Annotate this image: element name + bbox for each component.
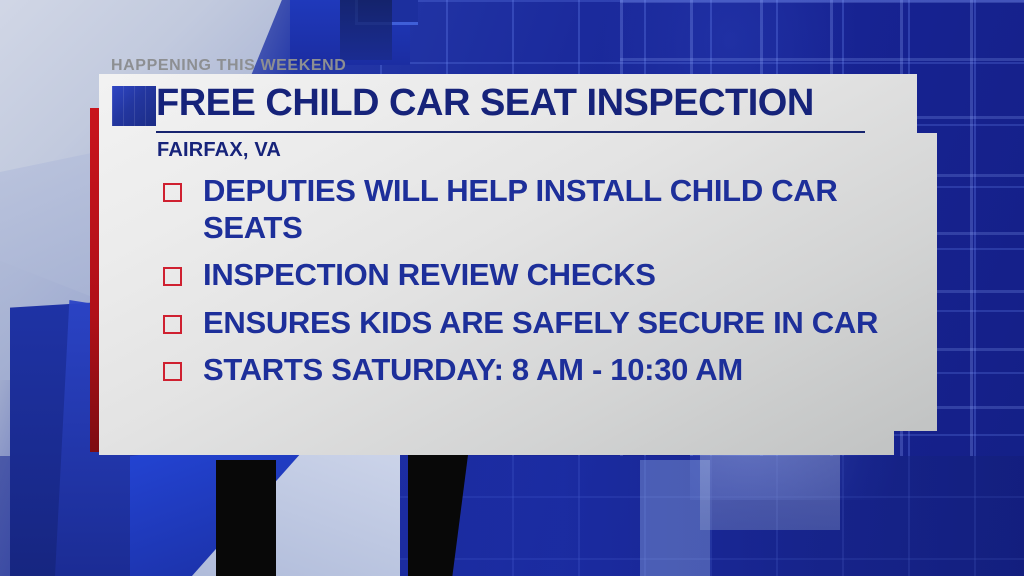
station-logo-icon: [112, 86, 156, 126]
list-item: ENSURES KIDS ARE SAFELY SECURE IN CAR: [163, 304, 923, 341]
broadcast-graphic: HAPPENING THIS WEEKEND FREE CHILD CAR SE…: [0, 0, 1024, 576]
kicker-text: HAPPENING THIS WEEKEND: [111, 57, 346, 75]
bullet-square-icon: [163, 183, 182, 202]
location-subtitle: FAIRFAX, VA: [157, 139, 281, 162]
list-item-label: DEPUTIES WILL HELP INSTALL CHILD CAR SEA…: [203, 172, 923, 246]
headline-divider: [156, 131, 865, 133]
list-item: STARTS SATURDAY: 8 AM - 10:30 AM: [163, 351, 923, 388]
bullet-square-icon: [163, 315, 182, 334]
list-item-label: STARTS SATURDAY: 8 AM - 10:30 AM: [203, 351, 743, 388]
list-item: DEPUTIES WILL HELP INSTALL CHILD CAR SEA…: [163, 172, 923, 246]
bullet-square-icon: [163, 267, 182, 286]
bullet-list: DEPUTIES WILL HELP INSTALL CHILD CAR SEA…: [163, 172, 923, 398]
list-item: INSPECTION REVIEW CHECKS: [163, 256, 923, 293]
background-column-dark: [340, 0, 392, 60]
background-dark-column: [216, 460, 276, 576]
bullet-square-icon: [163, 362, 182, 381]
headline-title: FREE CHILD CAR SEAT INSPECTION: [156, 82, 814, 125]
list-item-label: ENSURES KIDS ARE SAFELY SECURE IN CAR: [203, 304, 878, 341]
list-item-label: INSPECTION REVIEW CHECKS: [203, 256, 656, 293]
